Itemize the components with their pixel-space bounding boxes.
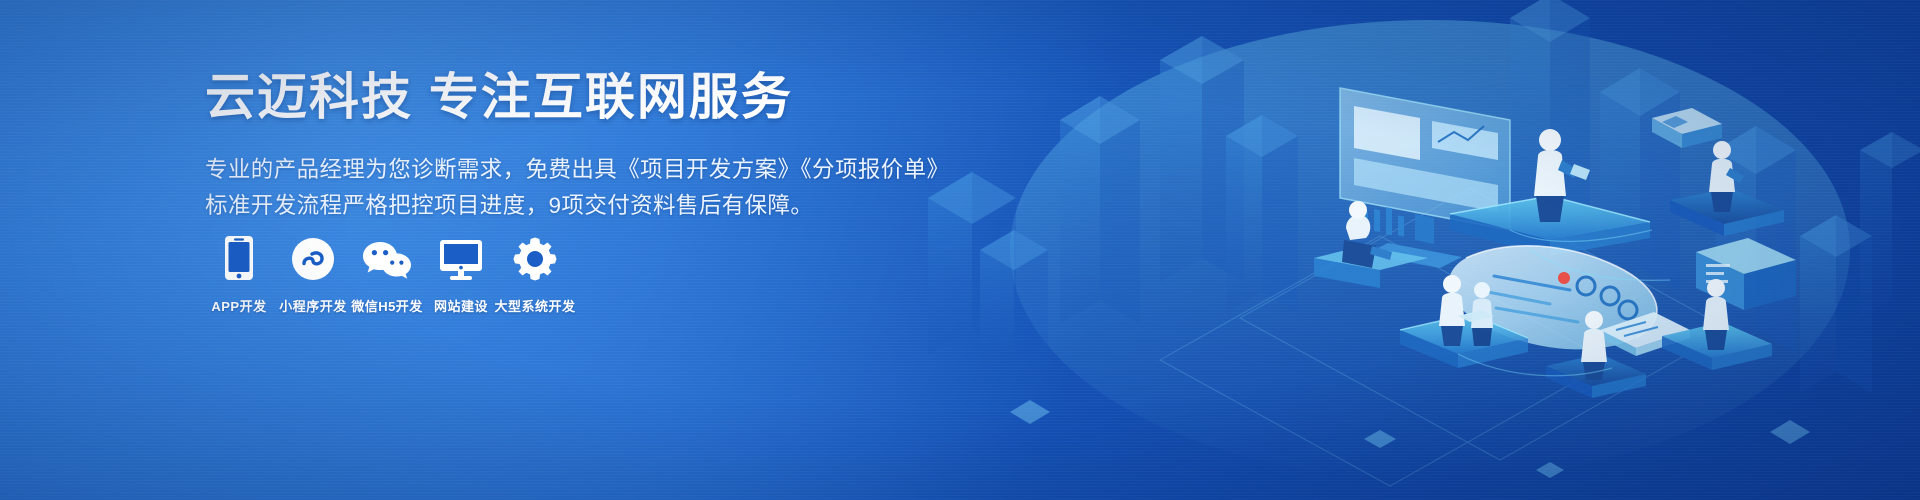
mobile-phone-icon (224, 233, 254, 281)
service-item-mini-program[interactable]: 小程序开发 (277, 233, 349, 315)
isometric-data-platform-illustration (910, 0, 1920, 500)
gear-icon (513, 233, 557, 281)
service-label: 网站建设 (434, 296, 488, 315)
page-title: 云迈科技 专注互联网服务 (205, 68, 925, 126)
service-item-large-system[interactable]: 大型系统开发 (499, 233, 571, 315)
banner-copy: 云迈科技 专注互联网服务 专业的产品经理为您诊断需求，免费出具《项目开发方案》《… (205, 68, 925, 225)
mini-program-icon (291, 233, 335, 281)
service-list: APP开发 小程序开发 微信 (203, 233, 573, 315)
desktop-monitor-icon (439, 233, 483, 281)
wechat-icon (363, 233, 411, 281)
service-label: 小程序开发 (279, 296, 347, 315)
subtitle-line-1: 专业的产品经理为您诊断需求，免费出具《项目开发方案》《分项报价单》 (205, 152, 925, 188)
service-item-app[interactable]: APP开发 (203, 233, 275, 315)
service-item-website[interactable]: 网站建设 (425, 233, 497, 315)
service-label: 微信H5开发 (351, 296, 423, 315)
service-label: APP开发 (211, 296, 266, 315)
service-label: 大型系统开发 (495, 296, 576, 315)
promo-banner: 云迈科技 专注互联网服务 专业的产品经理为您诊断需求，免费出具《项目开发方案》《… (0, 0, 1920, 500)
service-item-wechat-h5[interactable]: 微信H5开发 (351, 233, 423, 315)
subtitle-line-2: 标准开发流程严格把控项目进度，9项交付资料售后有保障。 (205, 188, 925, 224)
